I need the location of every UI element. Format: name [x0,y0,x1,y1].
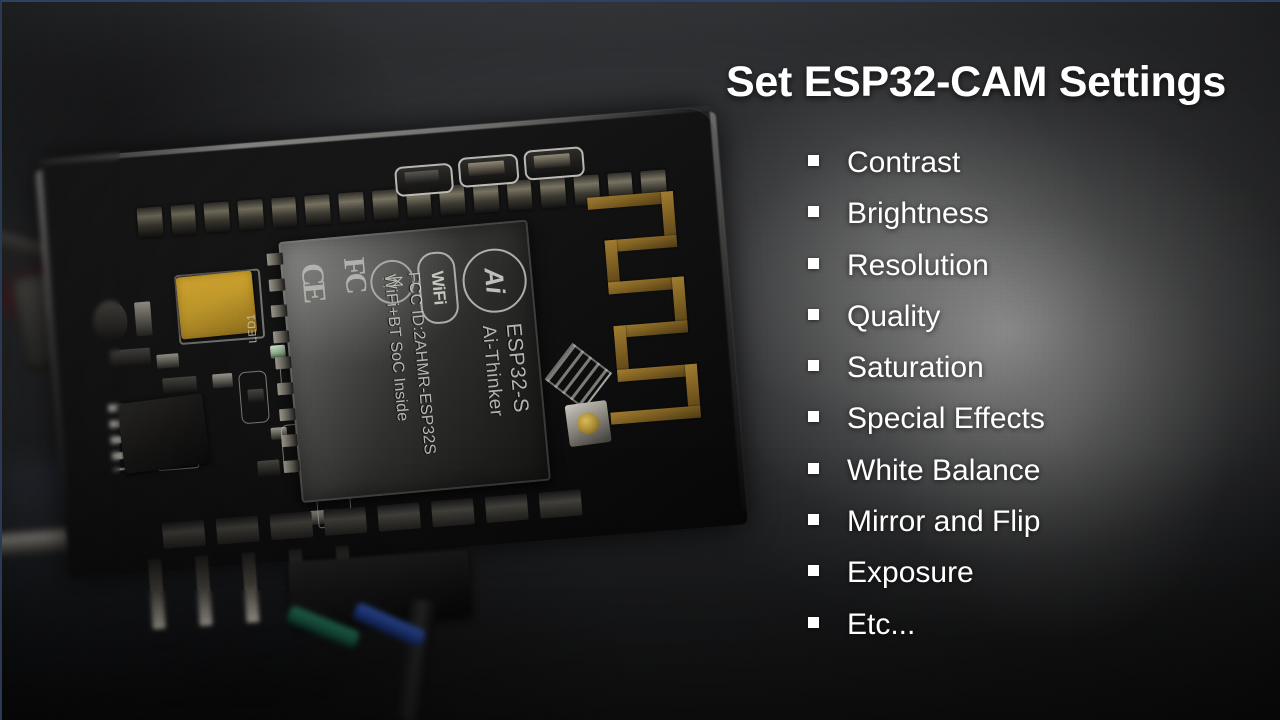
list-item-label: White Balance [847,454,1040,488]
list-item-label: Special Effects [847,402,1045,436]
list-item-label: Mirror and Flip [847,505,1040,539]
list-item-label: Resolution [847,249,989,283]
square-bullet-icon [808,258,819,269]
slide-canvas: LED1 Ai WiFi ᛗ FC CE [0,0,1280,720]
list-item-label: Brightness [847,197,989,231]
list-item: Mirror and Flip [808,505,1268,556]
list-item: White Balance [808,454,1268,505]
square-bullet-icon [808,617,819,628]
square-bullet-icon [808,411,819,422]
square-bullet-icon [808,206,819,217]
list-item-label: Etc... [847,608,915,642]
list-item: Special Effects [808,402,1268,453]
list-item: Etc... [808,608,1268,659]
square-bullet-icon [808,309,819,320]
list-item: Quality [808,300,1268,351]
list-item-label: Quality [847,300,940,334]
square-bullet-icon [808,463,819,474]
square-bullet-icon [808,565,819,576]
list-item: Exposure [808,556,1268,607]
page-title: Set ESP32-CAM Settings [640,58,1260,107]
list-item-label: Contrast [847,146,960,180]
square-bullet-icon [808,514,819,525]
list-item: Saturation [808,351,1268,402]
list-item: Contrast [808,146,1268,197]
square-bullet-icon [808,155,819,166]
settings-bullet-list: Contrast Brightness Resolution Quality S… [808,146,1268,659]
list-item: Resolution [808,249,1268,300]
list-item: Brightness [808,197,1268,248]
list-item-label: Exposure [847,556,974,590]
list-item-label: Saturation [847,351,984,385]
square-bullet-icon [808,360,819,371]
